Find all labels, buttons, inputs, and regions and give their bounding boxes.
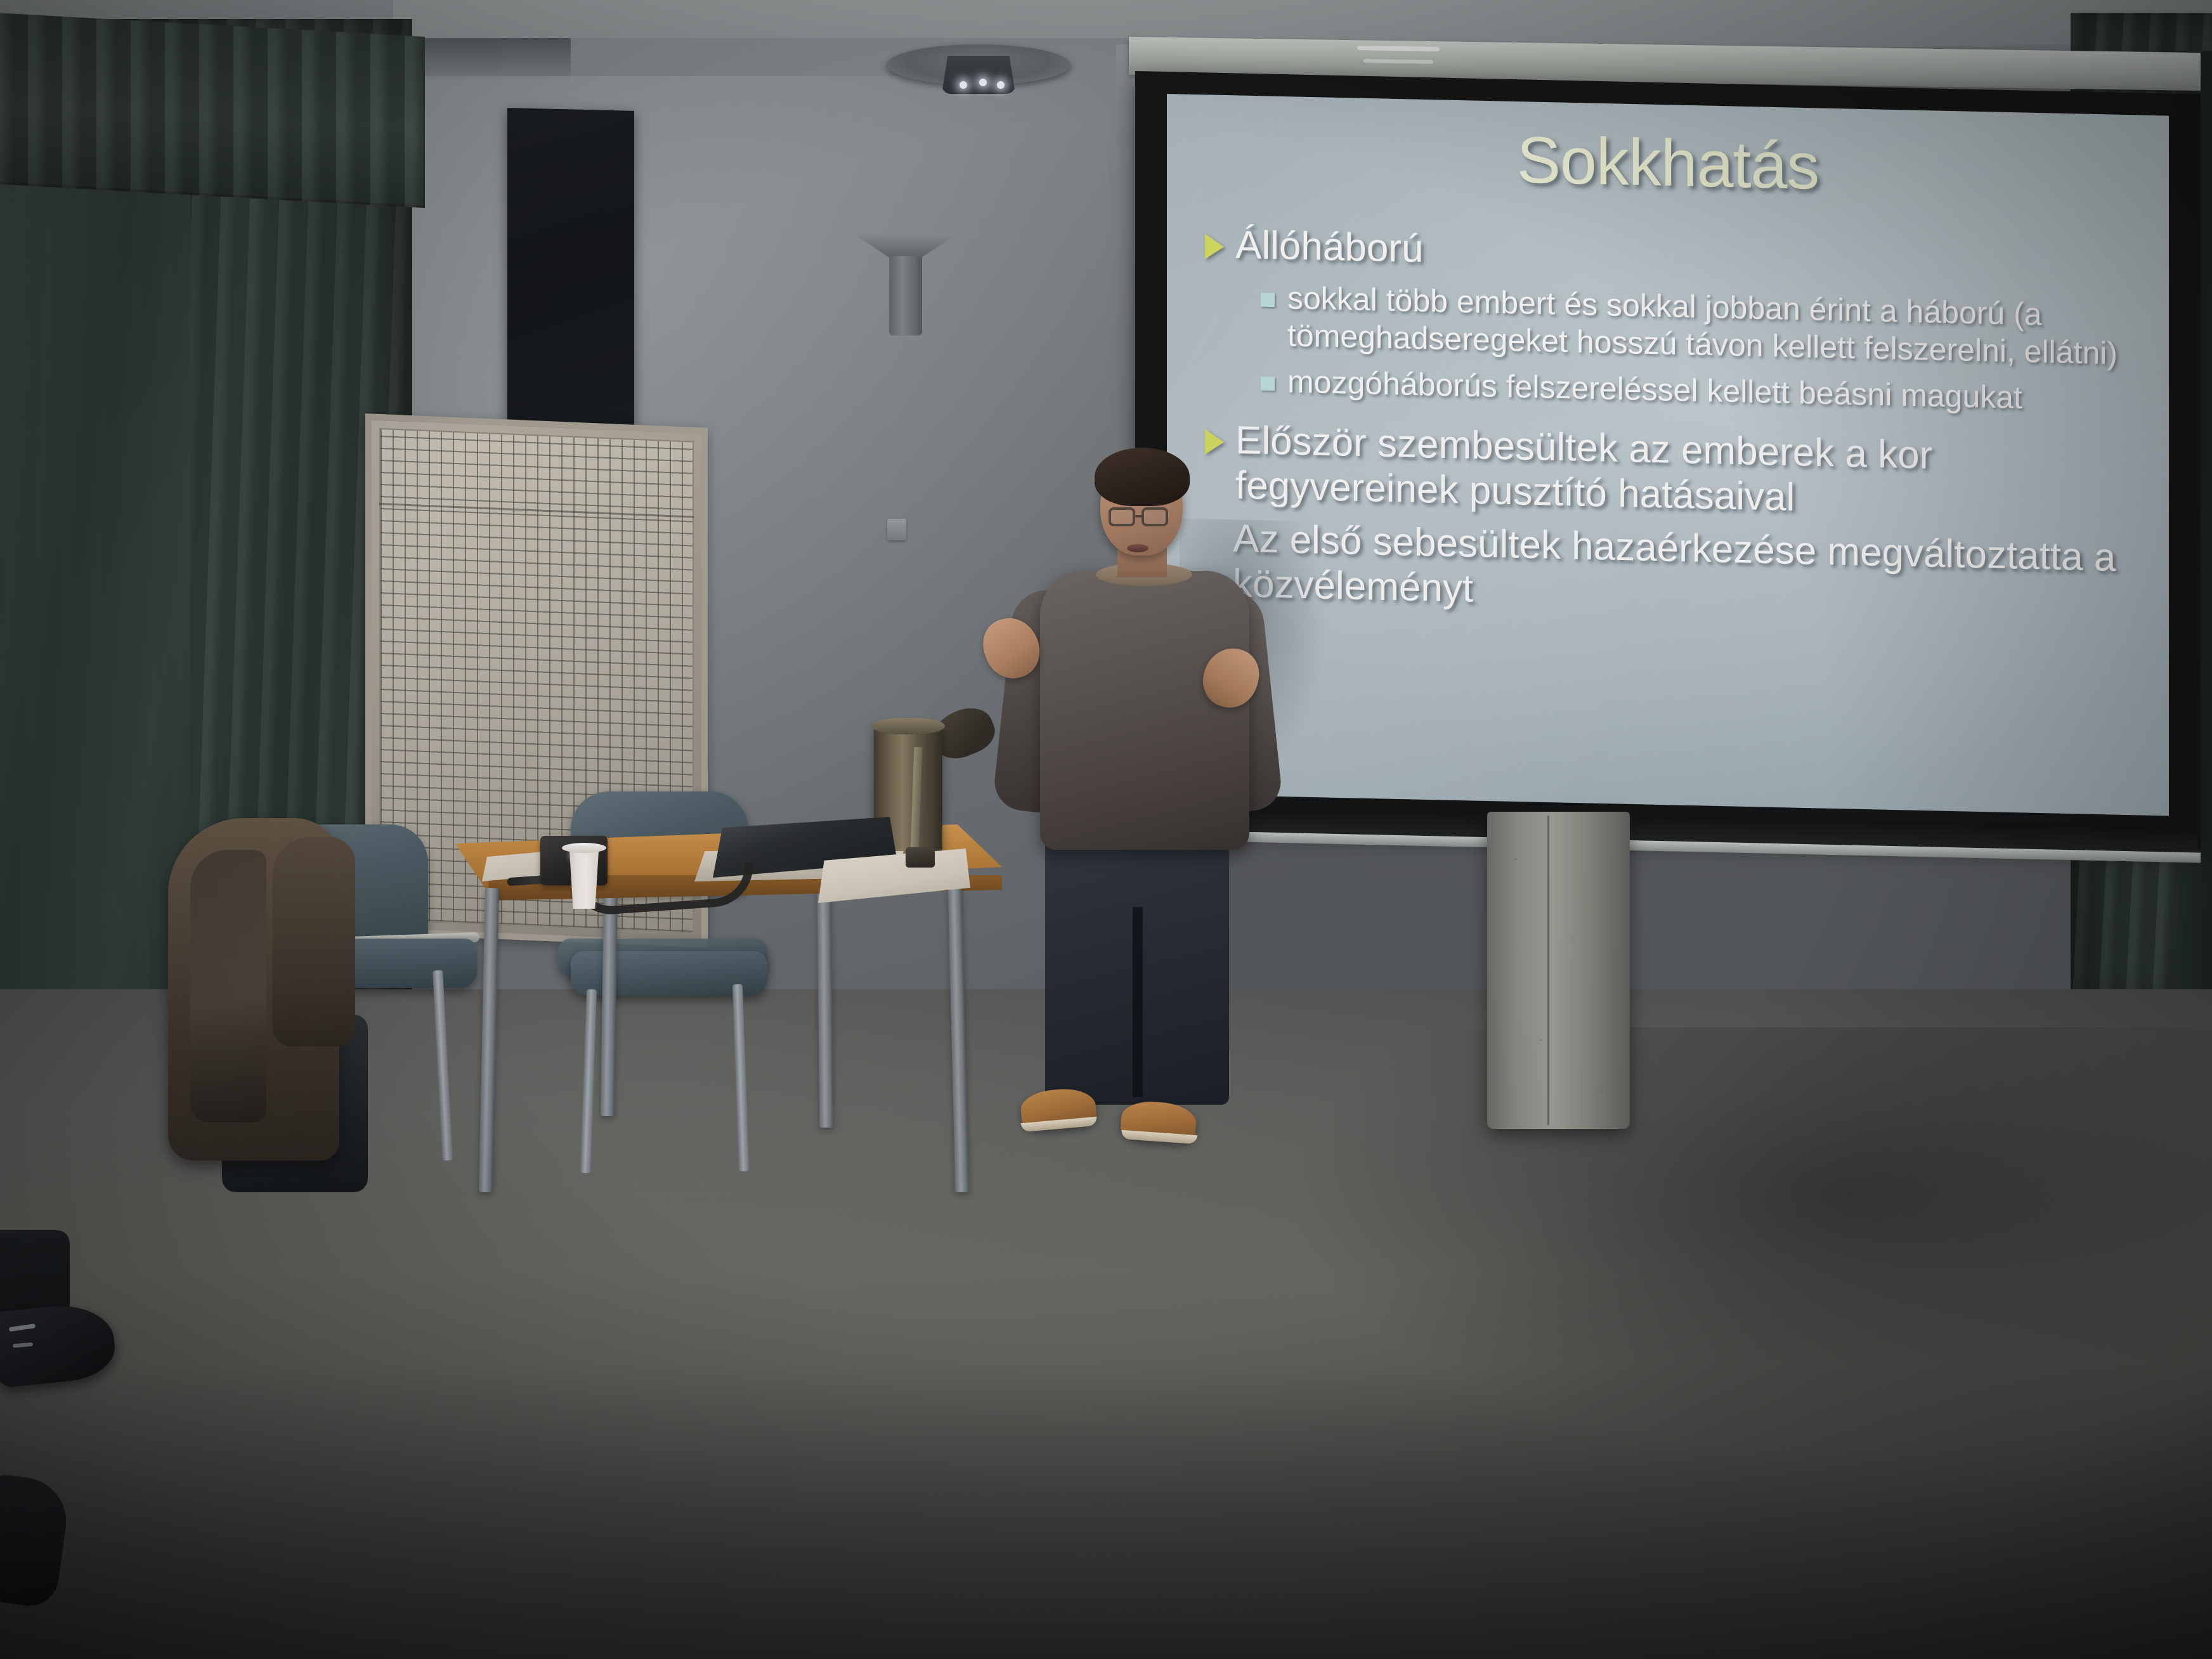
ceiling-lamp-cone [942,56,1015,94]
wall-outlet [887,519,906,540]
lamp-highlight [960,81,967,89]
bullet-level1-text: Az első sebesültek hazaérkezése megválto… [1233,517,2150,627]
square-bullet-icon [1261,293,1275,307]
coat-sleeve [273,837,355,1046]
presenter-hair [1095,448,1190,506]
glasses-icon [1142,507,1168,526]
floor-foreground-shadow [0,1363,2212,1659]
small-desk-item [906,847,935,868]
bullet-level2-text: mozgóháborús felszereléssel kellett beás… [1287,363,2022,417]
glasses-icon [1109,507,1135,526]
dark-wall-panel [507,108,634,428]
slide-title: Sokkhatás [1186,117,2150,211]
lamp-highlight [997,81,1005,89]
coffee-cup-rim [562,843,606,853]
bullet-level1-text: Először szembesültek az emberek a kor fe… [1235,419,2150,528]
slide-bullet-list: Állóháború sokkal több embert és sokkal … [1186,222,2150,627]
concrete-column-seam [1547,816,1549,1125]
bullet-level1-nomark: Az első sebesültek hazaérkezése megválto… [1205,516,2150,627]
glasses-bridge [1135,515,1143,517]
triangle-bullet-icon [1205,429,1224,455]
tube-bag-cap [871,718,945,734]
bullet-level1-text: Állóháború [1235,223,1423,272]
coat-fold [190,850,266,1122]
lecture-room-scene: Sokkhatás Állóháború sokkal több embert … [0,0,2212,1659]
bullet-level2-text: sokkal több embert és sokkal jobban érin… [1287,280,2150,374]
concrete-column-texture [1487,812,1630,1129]
curtain-valance-pleats [0,13,425,208]
presentation-slide: Sokkhatás Állóháború sokkal több embert … [1186,101,2150,807]
lamp-highlight [979,79,987,86]
square-bullet-icon [1261,377,1275,391]
slide-sub-bullet-list: sokkal több embert és sokkal jobban érin… [1261,279,2150,420]
bullet-level2: mozgóháborús felszereléssel kellett beás… [1261,363,2150,420]
presenter-mouth [1127,544,1148,552]
triangle-bullet-icon [1205,234,1224,260]
bullet-level2: sokkal több embert és sokkal jobban érin… [1261,279,2150,374]
bullet-level1: Állóháború [1205,223,2150,288]
presenter-torso [1040,571,1249,850]
presenter-leg-gap [1133,907,1143,1097]
bullet-level1: Először szembesültek az emberek a kor fe… [1205,418,2150,528]
wall-sconce-tube [889,256,922,335]
